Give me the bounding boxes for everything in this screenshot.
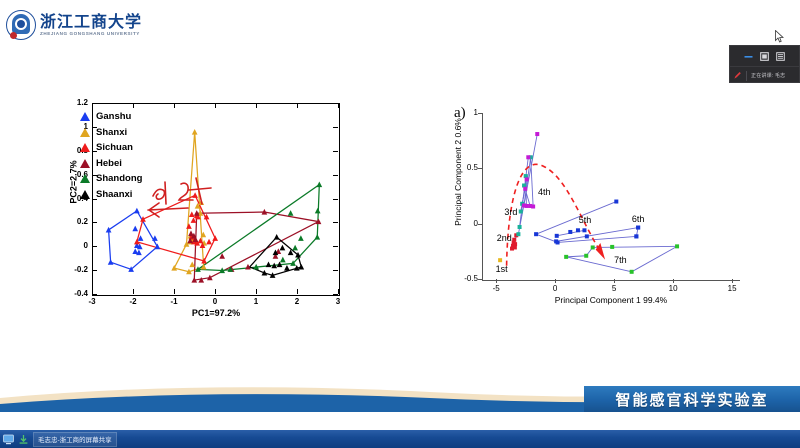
y-tick-label: -0.4: [68, 289, 88, 298]
screen-share-icon[interactable]: [3, 434, 14, 445]
screen-share-view: 浙江工商大学 ZHEJIANG GONGSHANG UNIVERSITY PC2…: [0, 0, 800, 448]
y-tick-label: 1.2: [68, 98, 88, 107]
pca-scatter-chart-left: PC2=2.7% PC1=97.2% -3-2-10123-0.4-0.200.…: [70, 103, 360, 318]
x-tick: [215, 289, 216, 294]
float-toolbar-window-controls: [730, 46, 799, 67]
university-logo-text: 浙江工商大学 ZHEJIANG GONGSHANG UNIVERSITY: [40, 14, 142, 37]
x-tick-label: -2: [125, 297, 141, 306]
y-tick: [92, 246, 97, 247]
y-tick: [333, 199, 338, 200]
x-tick: [174, 103, 175, 108]
y-tick: [92, 270, 97, 271]
x-tick: [297, 289, 298, 294]
pca-scatter-chart-right: a) Principal Component 2 0.6% Principal …: [450, 105, 750, 310]
x-tick: [673, 279, 674, 283]
x-tick-label: -5: [486, 284, 506, 293]
stage-label-7th: 7th: [614, 255, 627, 265]
legend-item-shanxi: Shanxi: [80, 125, 142, 141]
x-tick-label: 5: [604, 284, 624, 293]
x-tick: [338, 289, 339, 294]
x-tick-label: 3: [330, 297, 346, 306]
y-tick: [92, 103, 97, 104]
y-tick: [333, 175, 338, 176]
restore-window-icon[interactable]: [760, 52, 769, 61]
x-tick: [256, 289, 257, 294]
legend-item-sichuan: Sichuan: [80, 140, 142, 156]
right-chart-xlabel: Principal Component 1 99.4%: [482, 295, 740, 305]
y-tick-label: 0.2: [68, 217, 88, 226]
x-tick: [614, 279, 615, 283]
y-tick-label: 1: [452, 108, 478, 117]
y-tick: [333, 103, 338, 104]
university-name-en: ZHEJIANG GONGSHANG UNIVERSITY: [40, 31, 142, 37]
x-tick-label: 10: [663, 284, 683, 293]
university-logo: 浙江工商大学 ZHEJIANG GONGSHANG UNIVERSITY: [6, 8, 166, 42]
presentation-slide: 浙江工商大学 ZHEJIANG GONGSHANG UNIVERSITY PC2…: [0, 0, 800, 430]
meeting-float-toolbar[interactable]: 正在讲课: 毛志: [729, 45, 800, 83]
float-toolbar-status-row: 正在讲课: 毛志: [730, 67, 799, 84]
y-tick-label: -0.5: [452, 274, 478, 283]
x-tick-label: 15: [722, 284, 742, 293]
y-tick: [478, 224, 482, 225]
x-tick: [256, 103, 257, 108]
legend-marker-triangle-icon: [80, 190, 90, 199]
x-tick: [215, 103, 216, 108]
stage-label-5th: 5th: [579, 215, 592, 225]
y-tick: [92, 294, 97, 295]
taskbar-item-screen-share[interactable]: 毛志忠-浙工商的屏幕共享: [33, 432, 117, 447]
left-chart-legend: GanshuShanxiSichuanHebeiShandongShaanxi: [80, 109, 142, 202]
y-tick: [333, 127, 338, 128]
x-tick: [133, 103, 134, 108]
taskbar-item-label: 毛志忠-浙工商的屏幕共享: [38, 434, 112, 444]
y-tick: [478, 168, 482, 169]
meeting-status-text: 正在讲课: 毛志: [751, 72, 785, 79]
lab-brand-banner: 智能感官科学实验室: [584, 386, 800, 412]
y-tick-label: 0: [68, 241, 88, 250]
toolbar-divider: [746, 71, 747, 81]
y-tick-label: 0: [452, 219, 478, 228]
legend-label: Shaanxi: [96, 189, 132, 200]
x-tick: [555, 279, 556, 283]
x-tick-label: -3: [84, 297, 100, 306]
x-tick: [732, 279, 733, 283]
minimize-icon[interactable]: [744, 52, 753, 61]
x-tick-label: 1: [248, 297, 264, 306]
x-tick-label: 2: [289, 297, 305, 306]
legend-label: Ganshu: [96, 111, 131, 122]
legend-label: Hebei: [96, 158, 122, 169]
stage-label-4th: 4th: [538, 187, 551, 197]
stage-label-1st: 1st: [496, 264, 508, 274]
legend-item-ganshu: Ganshu: [80, 109, 142, 125]
stage-label-3rd: 3rd: [504, 207, 517, 217]
x-tick: [297, 103, 298, 108]
university-name-cn: 浙江工商大学: [40, 14, 142, 31]
legend-marker-triangle-icon: [80, 143, 90, 152]
y-tick: [333, 246, 338, 247]
y-tick-label: -0.2: [68, 265, 88, 274]
x-tick: [496, 279, 497, 283]
x-tick: [338, 103, 339, 108]
stage-label-2nd: 2nd: [497, 233, 512, 243]
y-tick: [478, 113, 482, 114]
right-chart-plot-area: [482, 113, 740, 281]
annotate-pen-icon[interactable]: [733, 71, 742, 80]
legend-item-shandong: Shandong: [80, 171, 142, 187]
legend-label: Shanxi: [96, 127, 127, 138]
legend-marker-triangle-icon: [80, 174, 90, 183]
list-view-icon[interactable]: [776, 52, 785, 61]
y-tick-label: 0.5: [452, 163, 478, 172]
x-tick: [174, 289, 175, 294]
x-tick-label: 0: [545, 284, 565, 293]
x-tick-label: -1: [166, 297, 182, 306]
legend-marker-triangle-icon: [80, 159, 90, 168]
y-tick: [478, 279, 482, 280]
left-chart-xlabel: PC1=97.2%: [92, 308, 340, 318]
x-tick-label: 0: [207, 297, 223, 306]
windows-taskbar: 毛志忠-浙工商的屏幕共享: [0, 430, 800, 448]
university-emblem-icon: [6, 10, 36, 40]
legend-label: Sichuan: [96, 142, 133, 153]
y-tick: [333, 270, 338, 271]
y-tick: [92, 222, 97, 223]
y-tick: [333, 151, 338, 152]
x-tick: [133, 289, 134, 294]
stage-label-6th: 6th: [632, 214, 645, 224]
right-chart-data-layer: [483, 113, 739, 279]
legend-item-hebei: Hebei: [80, 156, 142, 172]
legend-marker-triangle-icon: [80, 112, 90, 121]
download-icon[interactable]: [18, 434, 29, 445]
y-tick: [333, 222, 338, 223]
legend-label: Shandong: [96, 173, 142, 184]
mouse-pointer-icon: [775, 30, 784, 43]
legend-item-shaanxi: Shaanxi: [80, 187, 142, 203]
legend-marker-triangle-icon: [80, 128, 90, 137]
lab-brand-text: 智能感官科学实验室: [615, 389, 768, 410]
y-tick: [333, 294, 338, 295]
